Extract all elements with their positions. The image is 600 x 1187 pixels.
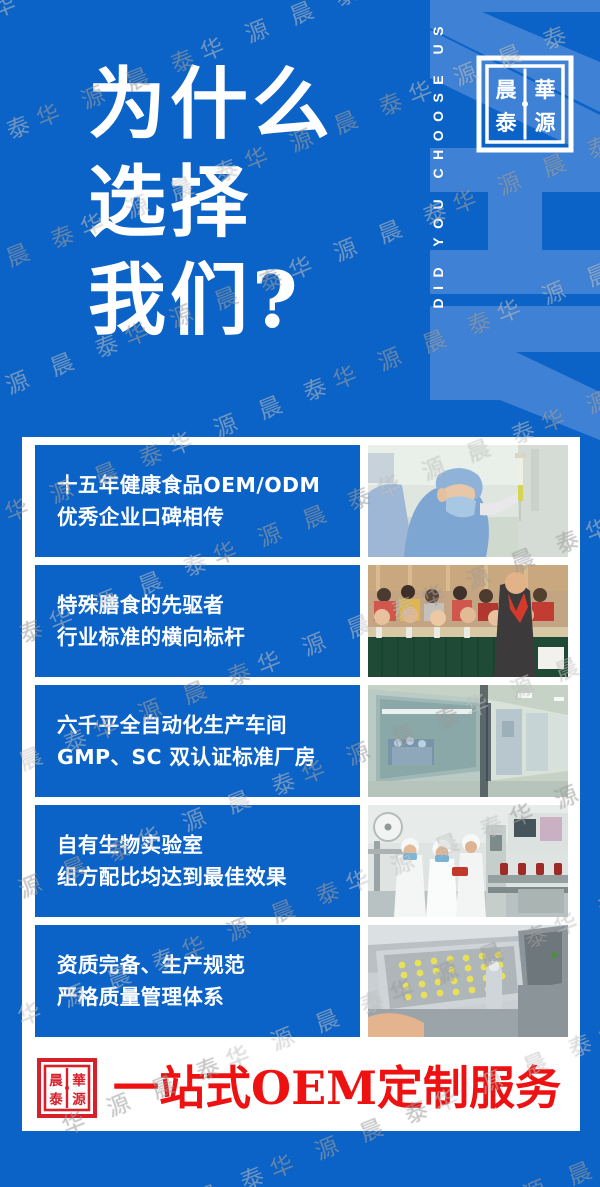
svg-text:源: 源 (72, 1091, 86, 1108)
feature-line: 特殊膳食的先驱者 (57, 592, 360, 618)
feature-line: 优秀企业口碑相传 (57, 504, 360, 530)
poster-root: 为什么 选择 我们? DID YOU CHOOSE US 晨 泰 華 源 (0, 0, 600, 1187)
footer-headline: 一站式OEM定制服务 (113, 1062, 561, 1114)
svg-text:華: 華 (72, 1072, 86, 1089)
feature-text-card: 十五年健康食品OEM/ODM 优秀企业口碑相传 (35, 445, 360, 557)
vertical-tagline-text: DID YOU CHOOSE US (430, 18, 446, 309)
watermark-text: 华 源 晨 泰 (577, 918, 600, 1094)
svg-text:泰: 泰 (48, 1091, 63, 1108)
brand-seal-red-icon: 晨 泰 華 源 (35, 1056, 99, 1120)
features-panel: 十五年健康食品OEM/ODM 优秀企业口碑相传 (22, 437, 580, 1131)
feature-line: 自有生物实验室 (57, 832, 360, 858)
feature-row[interactable]: 十五年健康食品OEM/ODM 优秀企业口碑相传 (35, 445, 568, 557)
svg-text:泰: 泰 (495, 110, 518, 135)
bottom-blue-strip (0, 1131, 600, 1187)
photo-tablet-packaging-machine (368, 925, 568, 1037)
svg-text:晨: 晨 (49, 1073, 63, 1089)
feature-line: 资质完备、生产规范 (57, 952, 360, 978)
feature-text-card: 六千平全自动化生产车间 GMP、SC 双认证标准厂房 (35, 685, 360, 797)
page-title: 为什么 选择 我们? (88, 56, 388, 350)
feature-line: 行业标准的横向标杆 (57, 624, 360, 650)
feature-line: GMP、SC 双认证标准厂房 (57, 744, 360, 770)
feature-row[interactable]: 资质完备、生产规范 严格质量管理体系 (35, 925, 568, 1037)
footer-cta[interactable]: 晨 泰 華 源 一站式OEM定制服务 (35, 1051, 567, 1125)
photo-cleanroom-corridor (368, 685, 568, 797)
photo-workers-production-line (368, 805, 568, 917)
feature-row[interactable]: 自有生物实验室 组方配比均达到最佳效果 (35, 805, 568, 917)
feature-line: 组方配比均达到最佳效果 (57, 864, 360, 890)
svg-text:源: 源 (535, 110, 556, 135)
title-line-3: 我们? (88, 252, 388, 350)
title-line-2: 选择 (88, 154, 388, 252)
feature-text-card: 特殊膳食的先驱者 行业标准的横向标杆 (35, 565, 360, 677)
brand-seal-icon: 晨 泰 華 源 (473, 52, 577, 156)
feature-line: 严格质量管理体系 (57, 984, 360, 1010)
photo-lab-technician-pipetting (368, 445, 568, 557)
svg-text:晨: 晨 (496, 77, 518, 102)
poster-header: 为什么 选择 我们? DID YOU CHOOSE US 晨 泰 華 源 (0, 0, 600, 437)
feature-row[interactable]: 六千平全自动化生产车间 GMP、SC 双认证标准厂房 (35, 685, 568, 797)
feature-text-card: 资质完备、生产规范 严格质量管理体系 (35, 925, 360, 1037)
svg-text:華: 華 (535, 77, 556, 102)
feature-line: 十五年健康食品OEM/ODM (57, 472, 360, 498)
title-line-1: 为什么 (88, 56, 388, 154)
photo-conference-audience (368, 565, 568, 677)
feature-text-card: 自有生物实验室 组方配比均达到最佳效果 (35, 805, 360, 917)
feature-line: 六千平全自动化生产车间 (57, 712, 360, 738)
vertical-tagline: DID YOU CHOOSE US (408, 18, 442, 398)
feature-list: 十五年健康食品OEM/ODM 优秀企业口碑相传 (35, 445, 568, 1037)
feature-row[interactable]: 特殊膳食的先驱者 行业标准的横向标杆 (35, 565, 568, 677)
